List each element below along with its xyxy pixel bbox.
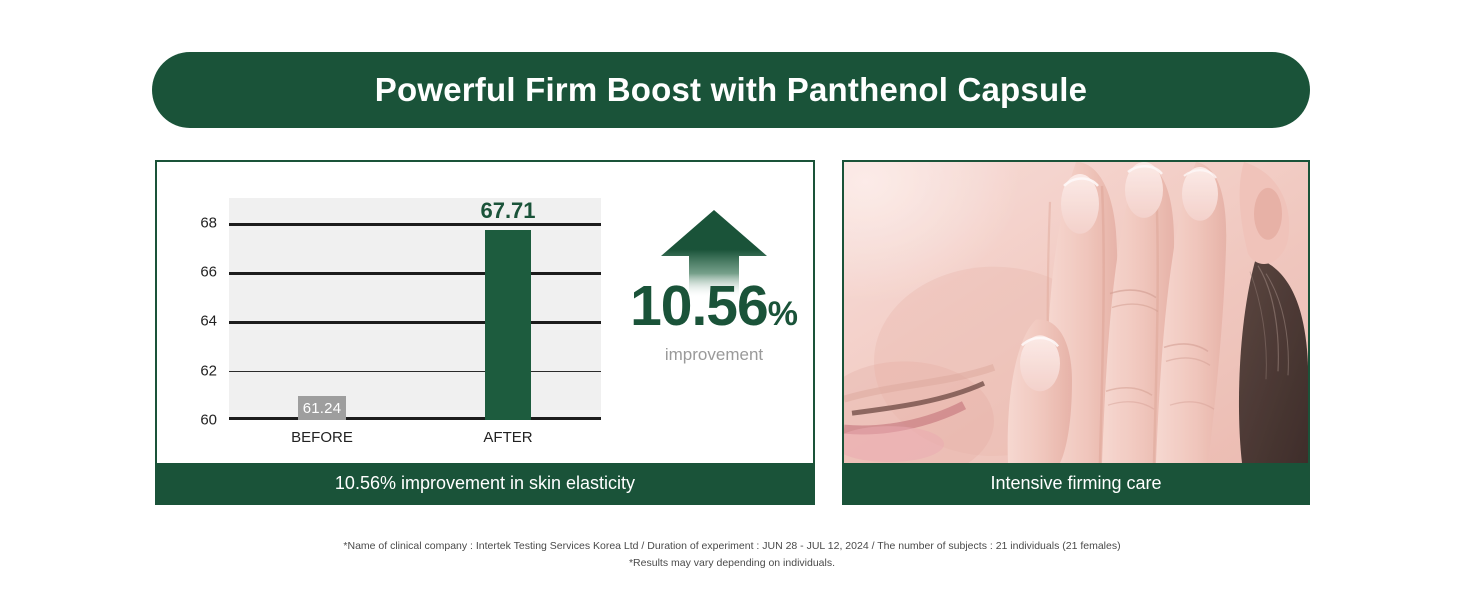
footnote-disclaimer: *Results may vary depending on individua… (0, 555, 1464, 572)
chart-gridline (229, 321, 601, 324)
chart-gridline (229, 272, 601, 275)
chart-gridline (229, 371, 601, 373)
improvement-number: 10.56 (630, 274, 768, 338)
chart-bar-after (485, 230, 531, 420)
chart-gridline (229, 223, 601, 226)
improvement-sublabel: improvement (619, 345, 809, 365)
promo-page: Powerful Firm Boost with Panthenol Capsu… (0, 0, 1464, 600)
y-axis-tick-label: 66 (200, 264, 217, 281)
face-firming-photo (844, 162, 1308, 463)
chart-panel: 606264666861.24BEFORE67.71AFTER (155, 160, 815, 505)
photo-panel: Intensive firming care (842, 160, 1310, 505)
y-axis-tick-label: 64 (200, 313, 217, 330)
chart-axis-baseline (229, 417, 601, 420)
y-axis-tick-label: 62 (200, 362, 217, 379)
improvement-value: 10.56% (619, 278, 809, 335)
photo-caption-bar: Intensive firming care (844, 463, 1308, 503)
chart-bar-value-after: 67.71 (480, 198, 535, 224)
page-title: Powerful Firm Boost with Panthenol Capsu… (375, 71, 1087, 109)
chart-caption-bar: 10.56% improvement in skin elasticity (157, 463, 813, 503)
chart-bar-before: 61.24 (298, 396, 346, 420)
improvement-callout: 10.56% improvement (619, 206, 809, 365)
percent-symbol: % (768, 295, 798, 333)
chart-bar-value-before: 61.24 (303, 400, 342, 417)
footnotes: *Name of clinical company : Intertek Tes… (0, 538, 1464, 572)
chart-caption-text: 10.56% improvement in skin elasticity (335, 473, 635, 494)
photo-caption-text: Intensive firming care (990, 473, 1161, 494)
chart-body: 606264666861.24BEFORE67.71AFTER (157, 162, 813, 463)
chart-plot-area: 606264666861.24BEFORE67.71AFTER (229, 198, 601, 420)
x-axis-category-label: AFTER (483, 429, 532, 446)
photo-frame (844, 162, 1308, 463)
y-axis-tick-label: 60 (200, 412, 217, 429)
y-axis-tick-label: 68 (200, 214, 217, 231)
x-axis-category-label: BEFORE (291, 429, 353, 446)
header-banner: Powerful Firm Boost with Panthenol Capsu… (152, 52, 1310, 128)
footnote-clinical-details: *Name of clinical company : Intertek Tes… (0, 538, 1464, 555)
